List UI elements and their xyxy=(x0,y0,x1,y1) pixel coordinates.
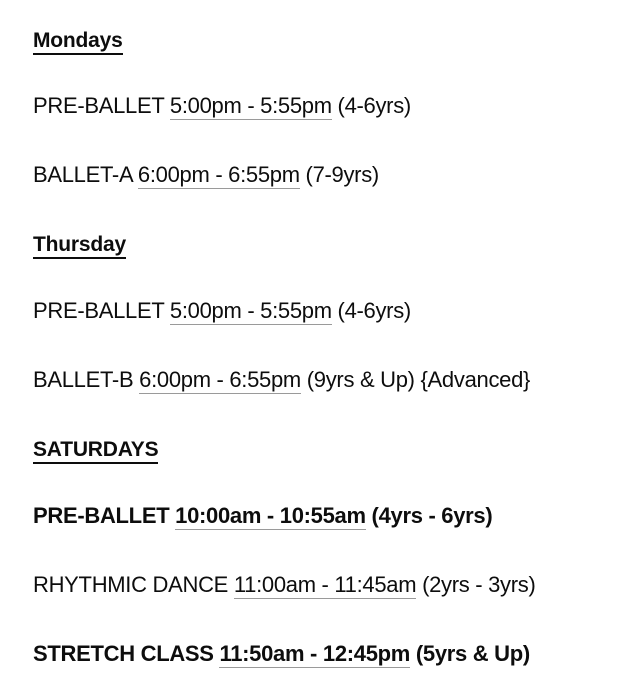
class-row: PRE-BALLET 5:00pm - 5:55pm (4-6yrs) xyxy=(33,95,630,117)
class-row: RHYTHMIC DANCE 11:00am - 11:45am (2yrs -… xyxy=(33,574,630,596)
class-ages: (9yrs & Up) {Advanced} xyxy=(301,367,530,392)
class-ages: (5yrs & Up) xyxy=(410,641,530,666)
day-heading-label: Mondays xyxy=(33,29,123,55)
class-name: PRE-BALLET xyxy=(33,298,170,323)
class-schedule-document: Mondays PRE-BALLET 5:00pm - 5:55pm (4-6y… xyxy=(0,0,640,689)
class-ages: (2yrs - 3yrs) xyxy=(416,572,535,597)
class-row: PRE-BALLET 10:00am - 10:55am (4yrs - 6yr… xyxy=(33,505,630,527)
class-time: 5:00pm - 5:55pm xyxy=(170,298,332,325)
class-time: 10:00am - 10:55am xyxy=(175,503,366,530)
class-name: PRE-BALLET xyxy=(33,503,175,528)
class-ages: (4-6yrs) xyxy=(332,298,411,323)
class-ages: (4-6yrs) xyxy=(332,93,411,118)
class-ages: (7-9yrs) xyxy=(300,162,379,187)
day-heading-mondays: Mondays xyxy=(33,30,630,51)
class-name: STRETCH CLASS xyxy=(33,641,219,666)
class-ages: (4yrs - 6yrs) xyxy=(366,503,493,528)
class-time: 6:00pm - 6:55pm xyxy=(139,367,301,394)
class-row: BALLET-B 6:00pm - 6:55pm (9yrs & Up) {Ad… xyxy=(33,369,630,391)
day-heading-label: SATURDAYS xyxy=(33,438,158,464)
class-row: PRE-BALLET 5:00pm - 5:55pm (4-6yrs) xyxy=(33,300,630,322)
class-name: BALLET-A xyxy=(33,162,138,187)
class-time: 11:00am - 11:45am xyxy=(234,572,416,599)
class-time: 11:50am - 12:45pm xyxy=(219,641,410,668)
day-heading-thursday: Thursday xyxy=(33,234,630,255)
class-name: PRE-BALLET xyxy=(33,93,170,118)
class-row: STRETCH CLASS 11:50am - 12:45pm (5yrs & … xyxy=(33,643,630,665)
day-heading-saturdays: SATURDAYS xyxy=(33,439,630,460)
class-name: RHYTHMIC DANCE xyxy=(33,572,234,597)
class-row: BALLET-A 6:00pm - 6:55pm (7-9yrs) xyxy=(33,164,630,186)
class-time: 6:00pm - 6:55pm xyxy=(138,162,300,189)
day-heading-label: Thursday xyxy=(33,233,126,259)
class-time: 5:00pm - 5:55pm xyxy=(170,93,332,120)
class-name: BALLET-B xyxy=(33,367,139,392)
